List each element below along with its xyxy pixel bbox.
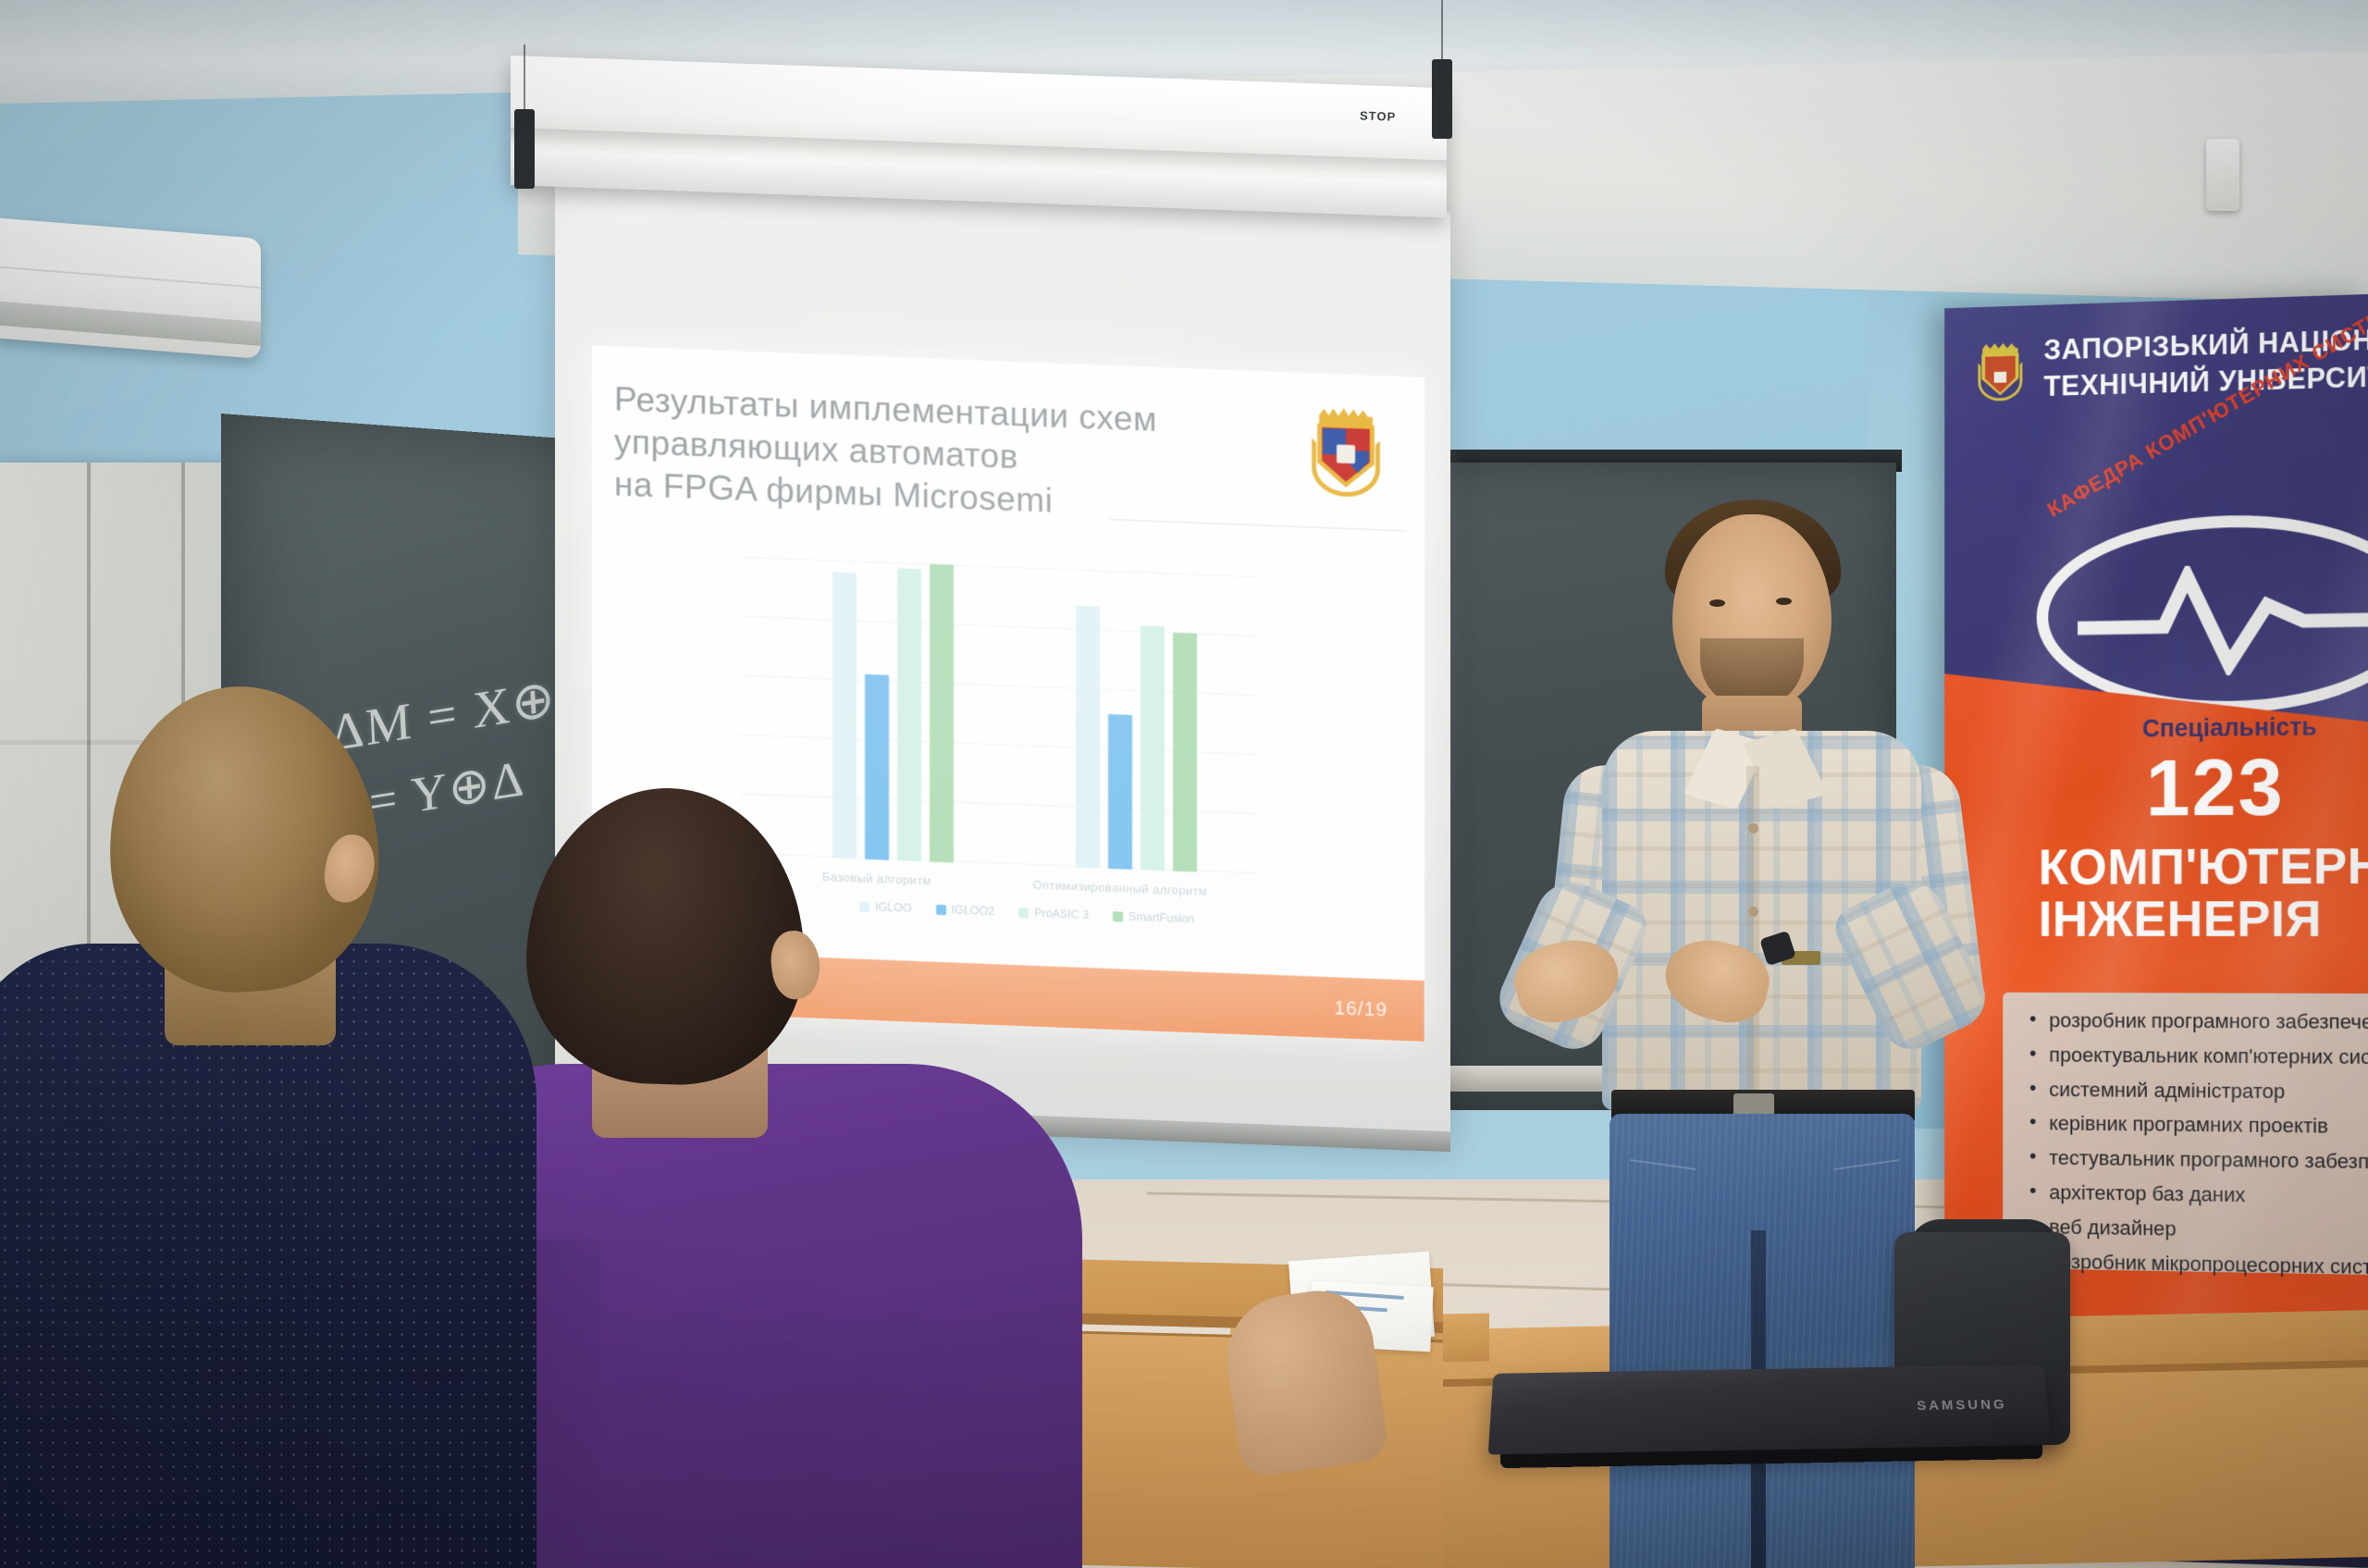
chart-bar-group bbox=[832, 561, 954, 863]
laptop-brand-logo: SAMSUNG bbox=[1917, 1397, 2008, 1414]
university-crest-icon bbox=[1306, 395, 1386, 498]
presenter-shirt-button bbox=[1748, 823, 1758, 833]
chart-bar bbox=[1173, 633, 1197, 872]
wall-sensor-device bbox=[2206, 139, 2239, 211]
ac-seam bbox=[0, 265, 261, 289]
chart-category-label: Оптимизированный алгоритм bbox=[1032, 878, 1207, 898]
cabinet-edge bbox=[87, 463, 91, 981]
chart-bar bbox=[865, 674, 889, 860]
air-conditioner bbox=[0, 217, 261, 359]
screen-wire-right bbox=[1441, 0, 1443, 61]
chart-legend-label: SmartFusion bbox=[1128, 910, 1194, 926]
chart-bar bbox=[1076, 605, 1100, 868]
chart-bar-group bbox=[1076, 570, 1197, 872]
slide-bar-chart: Базовый алгоритмОптимизированный алгорит… bbox=[740, 557, 1258, 929]
chart-legend: IGLOOIGLOO2ProASIC 3SmartFusion bbox=[795, 897, 1258, 928]
presenter-shirt-placket bbox=[1746, 766, 1759, 1110]
crest-center-emblem bbox=[1337, 444, 1355, 463]
chart-legend-swatch bbox=[1018, 907, 1029, 918]
chart-category-labels: Базовый алгоритмОптимизированный алгорит… bbox=[771, 868, 1258, 900]
chart-legend-label: IGLOO2 bbox=[952, 903, 995, 918]
presenter-eye-right bbox=[1776, 598, 1792, 605]
chart-plot-area bbox=[771, 558, 1258, 874]
slide-page-number: 16/19 bbox=[1334, 997, 1387, 1021]
chart-legend-label: IGLOO bbox=[875, 900, 912, 915]
ac-vent bbox=[0, 301, 261, 346]
chart-legend-swatch bbox=[936, 904, 946, 914]
screen-bracket-right bbox=[1432, 59, 1452, 139]
chart-bar bbox=[832, 572, 857, 858]
screen-bracket-left bbox=[514, 109, 535, 189]
housing-stop-label: STOP bbox=[1360, 108, 1397, 123]
chart-bar bbox=[1108, 714, 1132, 870]
chart-bar bbox=[897, 569, 921, 862]
chart-legend-label: ProASIC 3 bbox=[1034, 907, 1089, 921]
laptop-closed[interactable]: SAMSUNG bbox=[1488, 1364, 2052, 1455]
presenter-eye-left bbox=[1709, 599, 1725, 607]
lecture-room-photo: ΔM = X⊕Δ = Y⊕Δ Результаты имплементации … bbox=[0, 0, 2368, 1568]
chart-legend-swatch bbox=[859, 901, 869, 911]
chart-bar bbox=[1141, 625, 1165, 870]
chart-legend-item: IGLOO2 bbox=[936, 903, 995, 918]
chart-legend-item: ProASIC 3 bbox=[1018, 906, 1089, 921]
chart-bar bbox=[930, 564, 954, 863]
chart-legend-item: SmartFusion bbox=[1113, 909, 1194, 925]
chart-category-label: Базовый алгоритм bbox=[822, 870, 931, 888]
screen-wire-left bbox=[524, 44, 525, 111]
presenter-shirt-button bbox=[1748, 907, 1758, 917]
housing-lip bbox=[511, 128, 1447, 175]
slide-title: Результаты имплементации схем управляющи… bbox=[614, 377, 1225, 528]
chart-legend-item: IGLOO bbox=[859, 900, 912, 915]
chart-legend-swatch bbox=[1113, 911, 1123, 921]
